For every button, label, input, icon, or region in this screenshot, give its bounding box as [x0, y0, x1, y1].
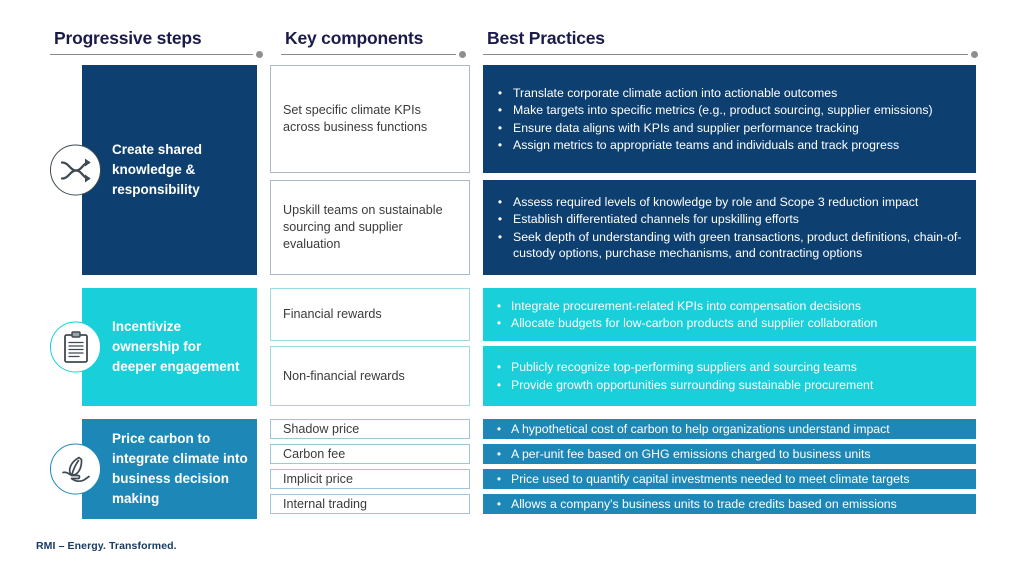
- key-component-label: Non-financial rewards: [283, 368, 405, 385]
- header-end-dot-icon: [459, 51, 466, 58]
- key-component-label: Implicit price: [283, 471, 353, 488]
- row-incentivize-ownership: Incentivize ownership for deeper engagem…: [0, 288, 1024, 406]
- best-practice-text: Establish differentiated channels for up…: [513, 211, 966, 228]
- bullet-icon: •: [487, 120, 513, 137]
- best-practices-column: • Translate corporate climate action int…: [483, 65, 976, 275]
- step-label: Incentivize ownership for deeper engagem…: [112, 317, 249, 377]
- bullet-icon: •: [487, 229, 513, 246]
- step-panel: Price carbon to integrate climate into b…: [82, 419, 257, 519]
- bullet-icon: •: [487, 446, 511, 463]
- best-practices-column: • Integrate procurement-related KPIs int…: [483, 288, 976, 406]
- best-practice-item: • Establish differentiated channels for …: [487, 211, 966, 229]
- footer-brand: RMI – Energy. Transformed.: [36, 540, 177, 552]
- step-label: Price carbon to integrate climate into b…: [112, 429, 249, 509]
- key-component-label: Set specific climate KPIs across busines…: [283, 102, 457, 136]
- best-practice-text: Seek depth of understanding with green t…: [513, 229, 966, 262]
- bullet-icon: •: [487, 377, 511, 394]
- key-components-column: Financial rewards Non-financial rewards: [270, 288, 470, 406]
- step-panel: Create shared knowledge & responsibility: [82, 65, 257, 275]
- best-practice-block: • A hypothetical cost of carbon to help …: [483, 419, 976, 439]
- best-practice-block: • Publicly recognize top-performing supp…: [483, 346, 976, 406]
- best-practice-item: • Make targets into specific metrics (e.…: [487, 102, 966, 120]
- best-practice-item: • Integrate procurement-related KPIs int…: [487, 297, 966, 315]
- bullet-icon: •: [487, 137, 513, 154]
- header-end-dot-icon: [256, 51, 263, 58]
- best-practice-block: • Allows a company's business units to t…: [483, 494, 976, 514]
- column-header-label: Best Practices: [483, 28, 986, 48]
- best-practice-text: Allows a company's business units to tra…: [511, 496, 966, 513]
- column-header-label: Progressive steps: [50, 28, 272, 48]
- best-practice-item: • Publicly recognize top-performing supp…: [487, 359, 966, 377]
- best-practice-item: • Price used to quantify capital investm…: [487, 470, 966, 488]
- best-practice-item: • A per-unit fee based on GHG emissions …: [487, 445, 966, 463]
- best-practice-item: • Seek depth of understanding with green…: [487, 228, 966, 262]
- key-component-box[interactable]: Upskill teams on sustainable sourcing an…: [270, 180, 470, 275]
- bullet-icon: •: [487, 298, 511, 315]
- header-rule-wrap: [483, 51, 986, 59]
- key-component-label: Upskill teams on sustainable sourcing an…: [283, 202, 457, 253]
- bullet-icon: •: [487, 211, 513, 228]
- best-practice-text: A hypothetical cost of carbon to help or…: [511, 421, 966, 438]
- bullet-icon: •: [487, 315, 511, 332]
- key-component-label: Internal trading: [283, 496, 367, 513]
- key-component-label: Financial rewards: [283, 306, 382, 323]
- step-panel: Incentivize ownership for deeper engagem…: [82, 288, 257, 406]
- best-practice-item: • Translate corporate climate action int…: [487, 84, 966, 102]
- best-practice-item: • Allows a company's business units to t…: [487, 495, 966, 513]
- header-rule: [50, 54, 253, 55]
- bullet-icon: •: [487, 102, 513, 119]
- key-components-column: Set specific climate KPIs across busines…: [270, 65, 470, 275]
- best-practice-block: • Integrate procurement-related KPIs int…: [483, 288, 976, 341]
- row-create-shared-knowledge: Create shared knowledge & responsibility…: [0, 65, 1024, 275]
- key-components-column: Shadow price Carbon fee Implicit price I…: [270, 419, 470, 519]
- best-practice-block: • Translate corporate climate action int…: [483, 65, 976, 173]
- best-practice-item: • Assess required levels of knowledge by…: [487, 193, 966, 211]
- bullet-icon: •: [487, 194, 513, 211]
- best-practice-block: • A per-unit fee based on GHG emissions …: [483, 444, 976, 464]
- key-component-box[interactable]: Shadow price: [270, 419, 470, 439]
- key-component-box[interactable]: Internal trading: [270, 494, 470, 514]
- step-label: Create shared knowledge & responsibility: [112, 140, 249, 200]
- best-practices-column: • A hypothetical cost of carbon to help …: [483, 419, 976, 519]
- best-practice-block: • Price used to quantify capital investm…: [483, 469, 976, 489]
- hand-leaf-icon: [50, 444, 101, 495]
- bullet-icon: •: [487, 471, 511, 488]
- bullet-icon: •: [487, 421, 511, 438]
- shuffle-arrows-icon: [50, 145, 101, 196]
- best-practice-item: • A hypothetical cost of carbon to help …: [487, 420, 966, 438]
- header-rule: [281, 54, 456, 55]
- column-header-best-practices: Best Practices: [483, 28, 986, 59]
- best-practice-text: Integrate procurement-related KPIs into …: [511, 298, 966, 315]
- bullet-icon: •: [487, 359, 511, 376]
- header-rule: [483, 54, 968, 55]
- key-component-box[interactable]: Carbon fee: [270, 444, 470, 464]
- key-component-box[interactable]: Set specific climate KPIs across busines…: [270, 65, 470, 173]
- best-practice-text: Price used to quantify capital investmen…: [511, 471, 966, 488]
- best-practice-text: Ensure data aligns with KPIs and supplie…: [513, 120, 966, 137]
- best-practice-text: Assess required levels of knowledge by r…: [513, 194, 966, 211]
- key-component-label: Carbon fee: [283, 446, 345, 463]
- bullet-icon: •: [487, 85, 513, 102]
- best-practice-item: • Assign metrics to appropriate teams an…: [487, 137, 966, 155]
- best-practice-text: Translate corporate climate action into …: [513, 85, 966, 102]
- best-practice-text: Make targets into specific metrics (e.g.…: [513, 102, 966, 119]
- bullet-icon: •: [487, 496, 511, 513]
- header-rule-wrap: [50, 51, 272, 59]
- key-component-box[interactable]: Financial rewards: [270, 288, 470, 341]
- row-price-carbon: Price carbon to integrate climate into b…: [0, 419, 1024, 519]
- best-practice-text: Allocate budgets for low-carbon products…: [511, 315, 966, 332]
- key-component-label: Shadow price: [283, 421, 359, 438]
- column-header-key-components: Key components: [281, 28, 474, 59]
- key-component-box[interactable]: Implicit price: [270, 469, 470, 489]
- header-end-dot-icon: [971, 51, 978, 58]
- best-practice-item: • Allocate budgets for low-carbon produc…: [487, 315, 966, 333]
- header-rule-wrap: [281, 51, 474, 59]
- best-practice-text: A per-unit fee based on GHG emissions ch…: [511, 446, 966, 463]
- clipboard-icon: [50, 322, 101, 373]
- best-practice-text: Assign metrics to appropriate teams and …: [513, 137, 966, 154]
- column-headers: Progressive steps Key components Best Pr…: [0, 0, 1024, 58]
- key-component-box[interactable]: Non-financial rewards: [270, 346, 470, 406]
- best-practice-text: Publicly recognize top-performing suppli…: [511, 359, 966, 376]
- column-header-progressive-steps: Progressive steps: [50, 28, 272, 59]
- best-practice-item: • Ensure data aligns with KPIs and suppl…: [487, 119, 966, 137]
- column-header-label: Key components: [281, 28, 474, 48]
- best-practice-block: • Assess required levels of knowledge by…: [483, 180, 976, 275]
- best-practice-text: Provide growth opportunities surrounding…: [511, 377, 966, 394]
- best-practice-item: • Provide growth opportunities surroundi…: [487, 376, 966, 394]
